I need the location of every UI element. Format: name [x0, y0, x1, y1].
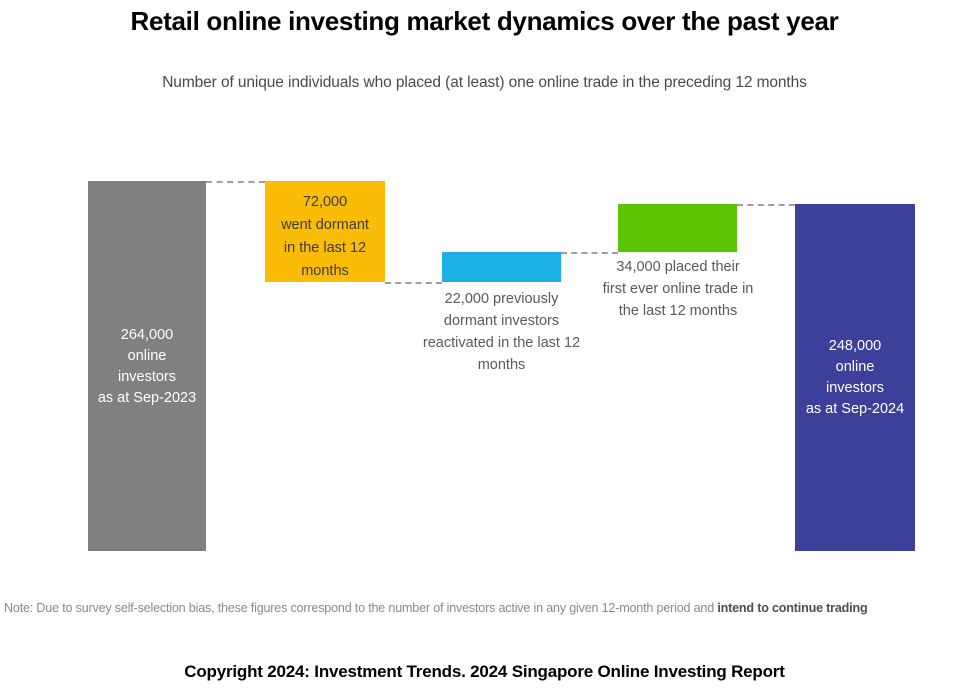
footnote-regular: Note: Due to survey self-selection bias,… — [4, 601, 717, 615]
bar-reactivated[interactable] — [442, 252, 561, 282]
connector-1 — [206, 181, 265, 183]
bar-label-went-dormant: 72,000 went dormant in the last 12 month… — [265, 191, 385, 283]
bar-label-investors-sep-2023: 264,000 online investors as at Sep-2023 — [88, 325, 206, 409]
connector-2 — [385, 282, 442, 284]
bar-investors-sep-2023[interactable]: 264,000 online investors as at Sep-2023 — [88, 181, 206, 551]
footnote-bold: intend to continue trading — [717, 601, 867, 615]
footnote: Note: Due to survey self-selection bias,… — [4, 601, 965, 615]
copyright-notice: Copyright 2024: Investment Trends. 2024 … — [0, 662, 969, 682]
connector-4 — [737, 204, 795, 206]
bar-label-reactivated: 22,000 previously dormant investors reac… — [413, 288, 590, 376]
waterfall-chart: 264,000 online investors as at Sep-2023 … — [0, 0, 969, 693]
bar-went-dormant[interactable]: 72,000 went dormant in the last 12 month… — [265, 181, 385, 282]
bar-first-ever-trade[interactable] — [618, 204, 737, 252]
bar-investors-sep-2024[interactable]: 248,000 online investors as at Sep-2024 — [795, 204, 915, 551]
connector-3 — [561, 252, 618, 254]
bar-label-first-ever-trade: 34,000 placed their first ever online tr… — [597, 256, 759, 322]
bar-label-investors-sep-2024: 248,000 online investors as at Sep-2024 — [795, 336, 915, 420]
